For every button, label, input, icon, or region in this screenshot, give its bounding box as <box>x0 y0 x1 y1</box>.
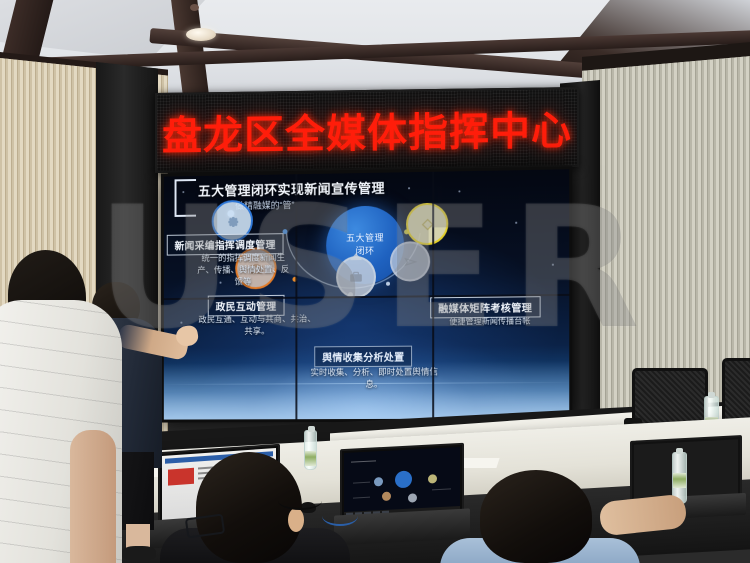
bottle-cap <box>676 448 683 454</box>
ear <box>288 508 304 532</box>
bottle-label <box>673 473 686 488</box>
video-wall[interactable]: 五大管理闭环实现新闻宣传管理 做精融媒的“管” 五大管理 闭环 <box>161 166 572 422</box>
slide-title: 五大管理闭环实现新闻宣传管理 <box>198 178 385 200</box>
ceiling-fixture-dot <box>190 4 199 11</box>
mini-node-gray <box>408 493 417 502</box>
arm <box>70 430 116 563</box>
cable-blue <box>322 506 358 526</box>
bottle-label <box>305 451 316 466</box>
body-citizen-interaction: 政民互通、互动与共商、共治、共享。 <box>198 312 316 337</box>
mini-title-line <box>351 460 377 462</box>
mini-text-line-2 <box>353 497 369 499</box>
gear-icon <box>224 213 240 229</box>
hub-line-1: 五大管理 <box>346 232 384 246</box>
mini-node-orange <box>382 491 391 500</box>
left-laptop-banner <box>168 468 194 486</box>
body-opinion-collection: 实时收集、分析、即时处置舆情信息。 <box>304 366 444 391</box>
mini-node-blue <box>374 477 383 486</box>
led-banner-text: 盘龙区全媒体指挥中心 <box>157 89 577 171</box>
bottle-cap <box>708 392 715 398</box>
bottle-cap <box>308 426 315 432</box>
body-news-dispatch: 统一的指挥调度新闻生产、传播、舆情处置、反馈等 <box>194 251 292 288</box>
mini-node-yellow <box>428 475 437 484</box>
orbit-dot-gray2 <box>386 282 390 286</box>
node-matrix-assessment[interactable] <box>406 203 448 246</box>
node-pointer-tail <box>350 253 362 260</box>
command-center-photo: 盘龙区全媒体指挥中心 五大管理闭环实现新闻宣传管理 做精融媒的“管” <box>0 0 750 563</box>
head <box>480 470 592 563</box>
water-bottle-center[interactable] <box>304 430 317 470</box>
label-opinion-collection: 舆情收集分析处置 <box>314 346 412 368</box>
shoe-right <box>122 546 156 560</box>
title-bracket-icon <box>175 179 196 217</box>
led-banner: 盘龙区全媒体指挥中心 <box>155 87 579 173</box>
send-icon <box>403 254 418 269</box>
node-opinion-collection[interactable] <box>336 256 376 298</box>
cable-left <box>278 492 322 510</box>
mini-hub-circle <box>395 471 412 489</box>
mini-text-line-1 <box>353 481 369 483</box>
body-matrix-assessment: 便捷管理新闻传播台帐 <box>430 315 550 328</box>
mini-text-line-3 <box>432 488 451 490</box>
briefcase-icon <box>349 270 363 284</box>
right-laptop-screen <box>344 447 460 519</box>
ceiling-light <box>186 28 216 41</box>
